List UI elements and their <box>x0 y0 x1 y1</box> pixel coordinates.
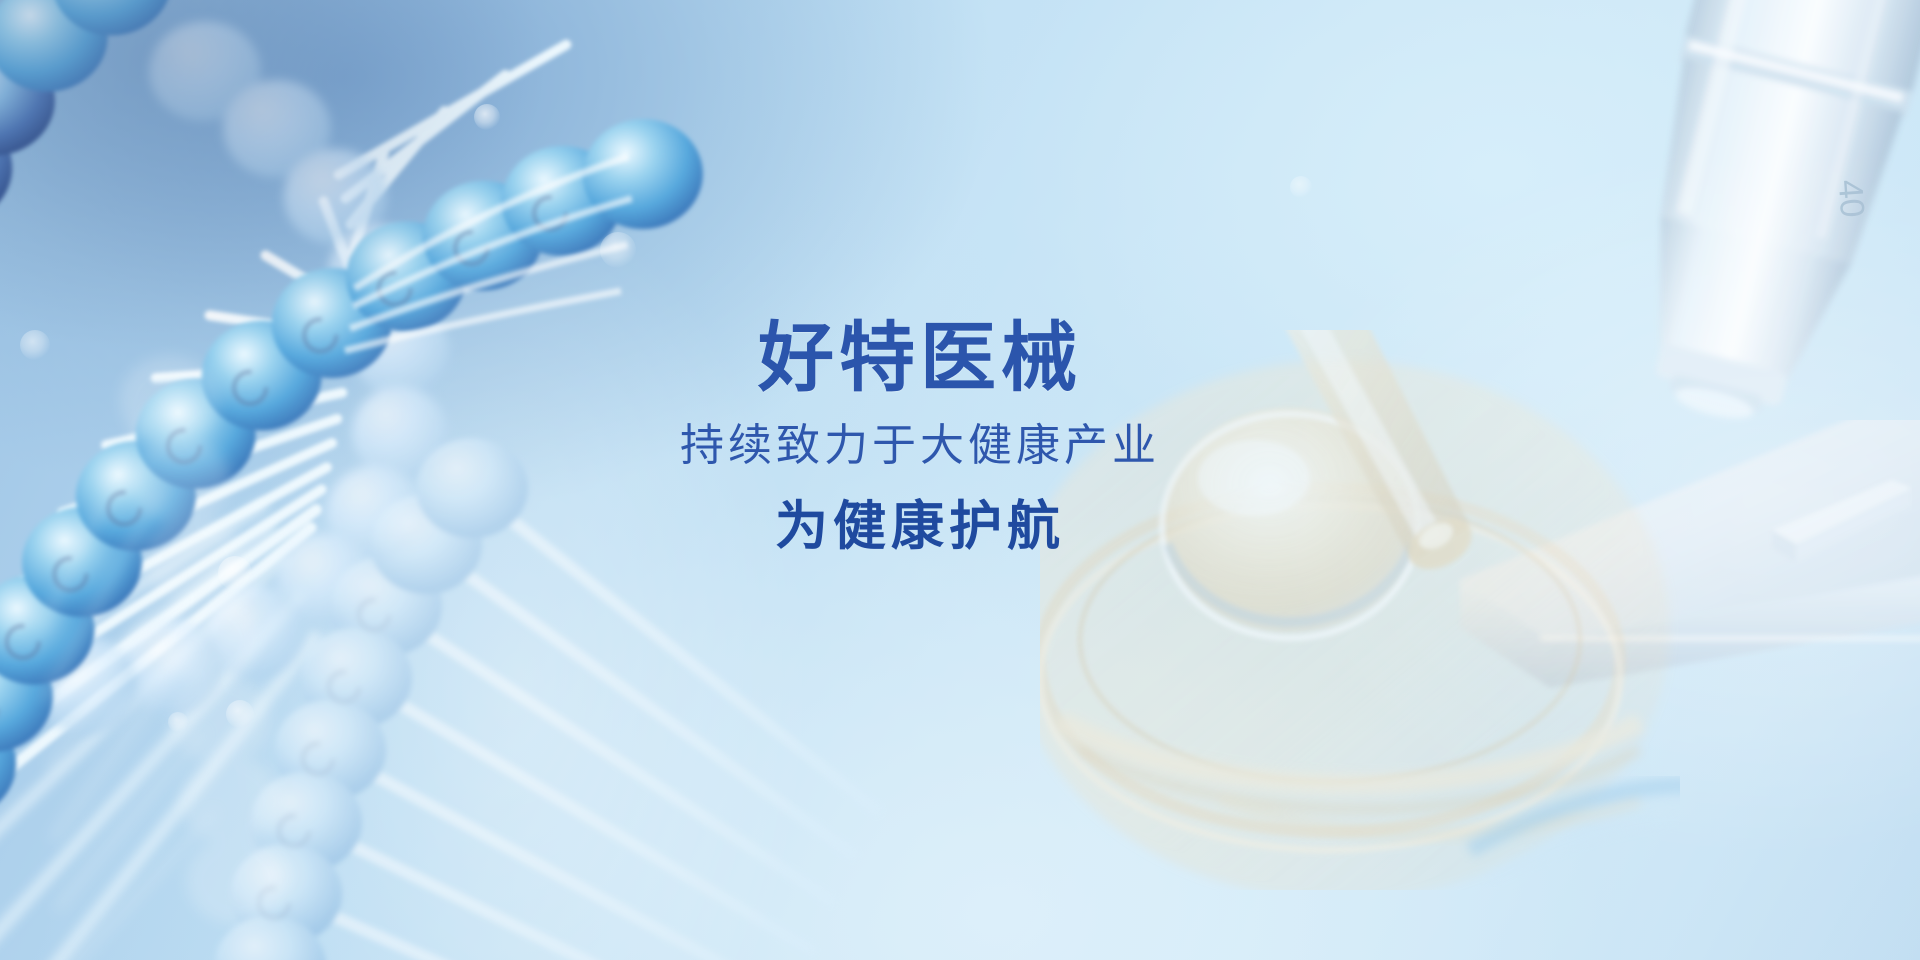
bokeh-dot <box>474 104 500 130</box>
bokeh-dot <box>218 556 252 590</box>
bokeh-dot <box>1290 176 1312 198</box>
banner-copy: 好特医械 持续致力于大健康产业 为健康护航 <box>0 318 1920 557</box>
bokeh-dot <box>600 232 636 268</box>
hero-banner: 40 <box>0 0 1920 960</box>
page-title: 好特医械 <box>680 318 1160 400</box>
banner-subtitle: 持续致力于大健康产业 <box>680 422 1160 470</box>
banner-slogan: 为健康护航 <box>680 498 1160 556</box>
bokeh-dot <box>168 712 188 732</box>
microscope-magnification-label: 40 <box>1831 178 1872 218</box>
bokeh-dot <box>226 700 254 728</box>
